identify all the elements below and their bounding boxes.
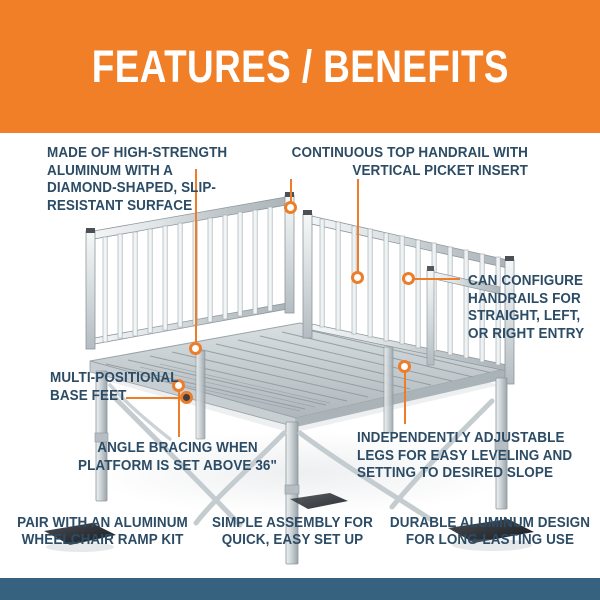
infographic-stage: MADE OF HIGH-STRENGTH ALUMINUM WITH A DI… [0,133,600,578]
callout-handrail: CONTINUOUS TOP HANDRAIL WITH VERTICAL PI… [291,145,528,180]
callout-base-feet: MULTI-POSITIONAL BASE FEET [50,370,190,405]
callout-surface: MADE OF HIGH-STRENGTH ALUMINUM WITH A DI… [47,145,238,215]
callout-adjustable-legs: INDEPENDENTLY ADJUSTABLE LEGS FOR EASY L… [357,430,580,483]
benefit-ramp-kit: PAIR WITH AN ALUMINUM WHEELCHAIR RAMP KI… [7,515,198,550]
callout-angle-bracing: ANGLE BRACING WHEN PLATFORM IS SET ABOVE… [78,440,278,475]
benefit-simple-assembly: SIMPLE ASSEMBLY FOR QUICK, EASY SET UP [211,515,374,550]
callout-ring-handrail-2 [351,271,364,284]
header-banner: FEATURES / BENEFITS [0,0,600,133]
leader-line-surface-2 [195,208,197,355]
leader-line-configure [412,278,460,280]
page-title: FEATURES / BENEFITS [91,41,508,93]
callout-ring-handrail [284,201,297,214]
bottom-accent-bar [0,578,600,600]
callout-ring-configure [402,272,415,285]
callout-ring-surface [189,342,202,355]
handrail-left-rear [86,192,294,349]
leader-line-handrail-2 [357,179,359,277]
callout-ring-adjustable [398,360,411,373]
benefit-durable-design: DURABLE ALUMINUM DESIGN FOR LONG-LASTING… [388,515,593,550]
callout-configure: CAN CONFIGURE HANDRAILS FOR STRAIGHT, LE… [468,273,589,343]
benefits-row: PAIR WITH AN ALUMINUM WHEELCHAIR RAMP KI… [0,515,600,578]
leader-line-adjustable [404,366,406,424]
